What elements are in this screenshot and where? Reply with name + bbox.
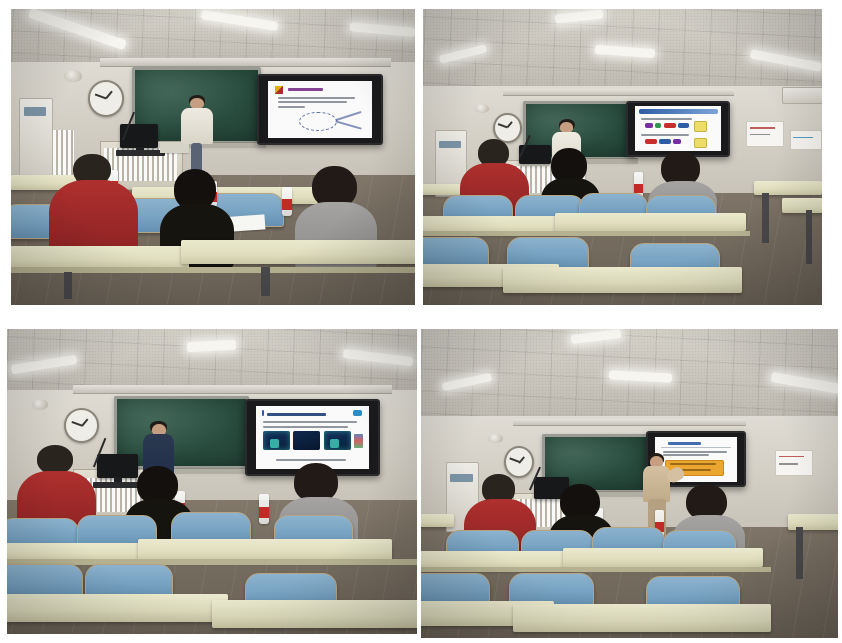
wall-poster: [790, 130, 822, 150]
slide-body-text: [263, 426, 349, 428]
dome-camera-icon: [64, 70, 82, 82]
slide-body-text: [278, 106, 305, 108]
slide-legend: [354, 434, 363, 448]
slide-caption: [276, 459, 346, 461]
water-bottle: [282, 187, 293, 217]
slide-loop-diagram: [299, 112, 336, 131]
front-desk-row: [138, 539, 392, 560]
audience-member-red-shirt: [47, 154, 140, 258]
slide-body-text: [641, 118, 692, 120]
wall-clock-icon: [88, 80, 124, 117]
ceiling-beam: [503, 89, 734, 97]
photo-bottom-left[interactable]: [7, 329, 417, 634]
classroom-scene: [421, 329, 838, 638]
side-desk: [782, 198, 822, 213]
ceiling-beam: [513, 419, 747, 427]
slide-heading: [668, 442, 701, 445]
slide-screen: [635, 106, 721, 151]
photo-top-right[interactable]: [423, 9, 822, 305]
front-desk-row: [181, 240, 415, 264]
slide-heading: [288, 88, 323, 91]
photo-top-left[interactable]: [11, 9, 415, 305]
slide-block-blue: [659, 139, 670, 144]
slide-block-blue: [678, 123, 689, 128]
smart-display[interactable]: [257, 74, 382, 145]
slide-diagram-arrow: [335, 121, 362, 130]
smart-display[interactable]: [626, 101, 730, 157]
slide-panel-highlight: [270, 439, 279, 448]
presenter: [173, 95, 221, 181]
slide-block-yellow: [694, 121, 707, 132]
slide-block-yellow: [694, 138, 707, 148]
slide-title-bar: [639, 109, 718, 115]
slide-diagram-arrow: [335, 111, 361, 121]
front-desk-row: [513, 604, 772, 632]
front-desk-row: [563, 548, 763, 567]
desk-leg: [796, 527, 803, 580]
ceiling-beam: [100, 58, 391, 67]
desk-leg: [261, 267, 269, 297]
front-desk-row: [555, 213, 747, 231]
ac-vent-icon: [24, 107, 46, 116]
slide-block-green: [655, 123, 661, 128]
desk-leg: [762, 193, 768, 243]
photo-grid: [0, 0, 842, 643]
slide-screen: [256, 406, 369, 469]
slide-logo-icon: [275, 86, 283, 94]
desk-edge: [421, 567, 771, 573]
desk-edge: [423, 231, 750, 236]
wall-clock-icon: [64, 408, 99, 443]
ac-vent-icon: [439, 141, 461, 149]
slide-body-text: [263, 421, 358, 423]
slide-heading-accent: [262, 410, 265, 416]
slide-divider: [661, 447, 730, 449]
desk-edge: [11, 267, 415, 274]
slide-block-purple: [645, 123, 653, 128]
front-desk-row: [503, 267, 742, 294]
slide-body-text: [641, 134, 689, 136]
front-desk-row: [7, 543, 146, 561]
classroom-scene: [7, 329, 417, 634]
slide-block-red: [645, 139, 657, 144]
slide-body-text: [278, 101, 347, 103]
slide-image-panel: [293, 431, 320, 450]
photo-bottom-right[interactable]: [421, 329, 838, 638]
dome-camera-icon: [32, 399, 48, 410]
slide-heading-icon: [353, 410, 362, 416]
desk-row: [421, 514, 454, 526]
slide-body-text: [278, 97, 355, 99]
ceiling-ac-unit: [782, 87, 822, 104]
wall-poster: [775, 450, 812, 477]
desk-leg: [806, 210, 812, 263]
slide-panel-highlight: [330, 439, 339, 448]
slide-callout-text: [670, 463, 716, 465]
wall-poster: [746, 121, 784, 147]
slide-heading: [267, 413, 326, 416]
desk-leg: [64, 272, 72, 299]
slide-screen: [268, 81, 372, 138]
classroom-scene: [11, 9, 415, 305]
water-bottle: [259, 494, 269, 525]
ceiling-beam: [73, 385, 393, 393]
dome-camera-icon: [475, 104, 489, 113]
dome-camera-icon: [488, 434, 503, 443]
front-desk-row: [212, 600, 417, 627]
slide-block-red: [664, 123, 676, 128]
classroom-scene: [423, 9, 822, 305]
slide-block-purple: [673, 139, 681, 144]
front-desk-row: [7, 594, 228, 621]
